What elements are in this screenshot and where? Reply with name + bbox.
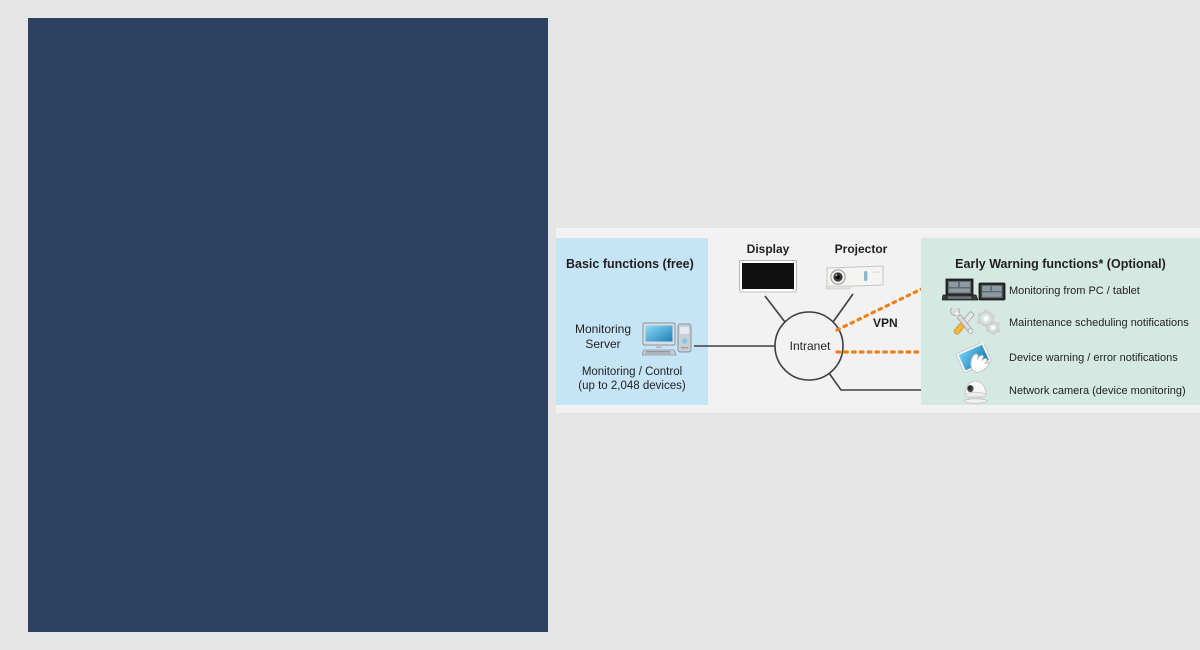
early-warning-panel: Early Warning functions* (Optional)	[921, 238, 1200, 405]
basic-functions-title: Basic functions (free)	[566, 257, 694, 271]
laptop-and-tablet-icon	[939, 276, 1009, 306]
basic-functions-subtitle-line2: (up to 2,048 devices)	[556, 379, 708, 393]
monitoring-server-label-line1: Monitoring	[567, 322, 639, 337]
list-item-label: Monitoring from PC / tablet	[1009, 285, 1140, 297]
monitoring-server-label-line2: Server	[567, 337, 639, 352]
basic-functions-panel: Basic functions (free) Monitoring Server	[556, 238, 708, 405]
system-diagram: Basic functions (free) Monitoring Server	[556, 228, 1200, 413]
wire-hub-to-display	[765, 296, 785, 322]
tools-and-gears-icon	[939, 306, 1009, 340]
list-item-label: Network camera (device monitoring)	[1009, 385, 1186, 397]
left-color-block	[28, 18, 548, 632]
flat-panel-display-icon	[739, 260, 797, 294]
list-item: Maintenance scheduling notifications	[939, 306, 1199, 340]
network-camera-icon	[939, 376, 1009, 406]
desktop-computer-and-tower-icon	[642, 322, 694, 356]
list-item: Monitoring from PC / tablet	[939, 276, 1199, 306]
basic-functions-subtitle-line1: Monitoring / Control	[556, 365, 708, 379]
intranet-hub-label: Intranet	[775, 339, 845, 353]
projector-icon	[824, 262, 886, 292]
list-item-label: Device warning / error notifications	[1009, 352, 1178, 364]
hand-touching-tablet-icon	[939, 341, 1009, 375]
early-warning-title: Early Warning functions* (Optional)	[921, 257, 1200, 271]
list-item: Network camera (device monitoring)	[939, 376, 1199, 406]
list-item-label: Maintenance scheduling notifications	[1009, 317, 1189, 329]
basic-functions-subtitle: Monitoring / Control (up to 2,048 device…	[556, 365, 708, 393]
display-label: Display	[731, 242, 805, 256]
vpn-label: VPN	[873, 316, 898, 330]
list-item: Device warning / error notifications	[939, 341, 1199, 375]
monitoring-server-label: Monitoring Server	[567, 322, 639, 352]
projector-label: Projector	[821, 242, 901, 256]
wire-hub-to-projector	[833, 294, 853, 322]
